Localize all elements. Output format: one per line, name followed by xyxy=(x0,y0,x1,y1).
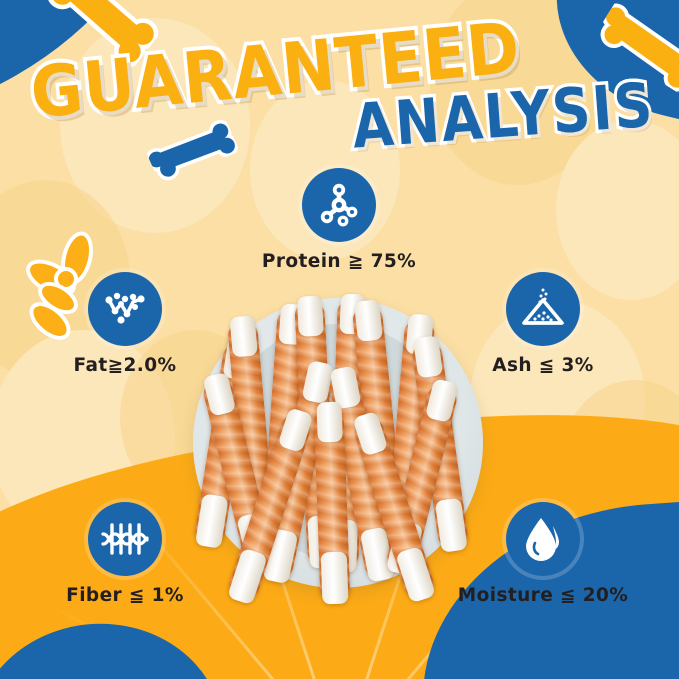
nutrient-label-fat: Fat≧2.0% xyxy=(25,355,225,376)
poster-heading: GUARANTEED ANALYSIS xyxy=(0,0,679,180)
ash-badge xyxy=(506,272,580,346)
ash-pile-icon xyxy=(519,285,567,333)
woven-fiber-icon xyxy=(99,517,151,561)
nutrient-item-ash[interactable]: Ash ≦ 3% xyxy=(443,272,643,376)
nutrient-label-fiber: Fiber ≦ 1% xyxy=(25,585,225,606)
protein-badge xyxy=(302,168,376,242)
fiber-badge xyxy=(88,502,162,576)
nutrient-item-protein[interactable]: Protein ≧ 75% xyxy=(239,168,439,272)
nutrient-item-moisture[interactable]: Moisture ≦ 20% xyxy=(443,502,643,606)
nutrient-label-moisture: Moisture ≦ 20% xyxy=(443,585,643,606)
water-drop-icon xyxy=(520,515,566,563)
nutrient-item-fat[interactable]: Fat≧2.0% xyxy=(25,272,225,376)
moisture-badge xyxy=(506,502,580,576)
nutrient-label-protein: Protein ≧ 75% xyxy=(239,251,439,272)
molecule-icon xyxy=(315,181,363,229)
fat-droplet-nodes-icon xyxy=(101,287,149,331)
guaranteed-analysis-poster: GUARANTEED ANALYSIS xyxy=(0,0,679,679)
nutrient-label-ash: Ash ≦ 3% xyxy=(443,355,643,376)
nutrient-item-fiber[interactable]: Fiber ≦ 1% xyxy=(25,502,225,606)
fat-badge xyxy=(88,272,162,346)
